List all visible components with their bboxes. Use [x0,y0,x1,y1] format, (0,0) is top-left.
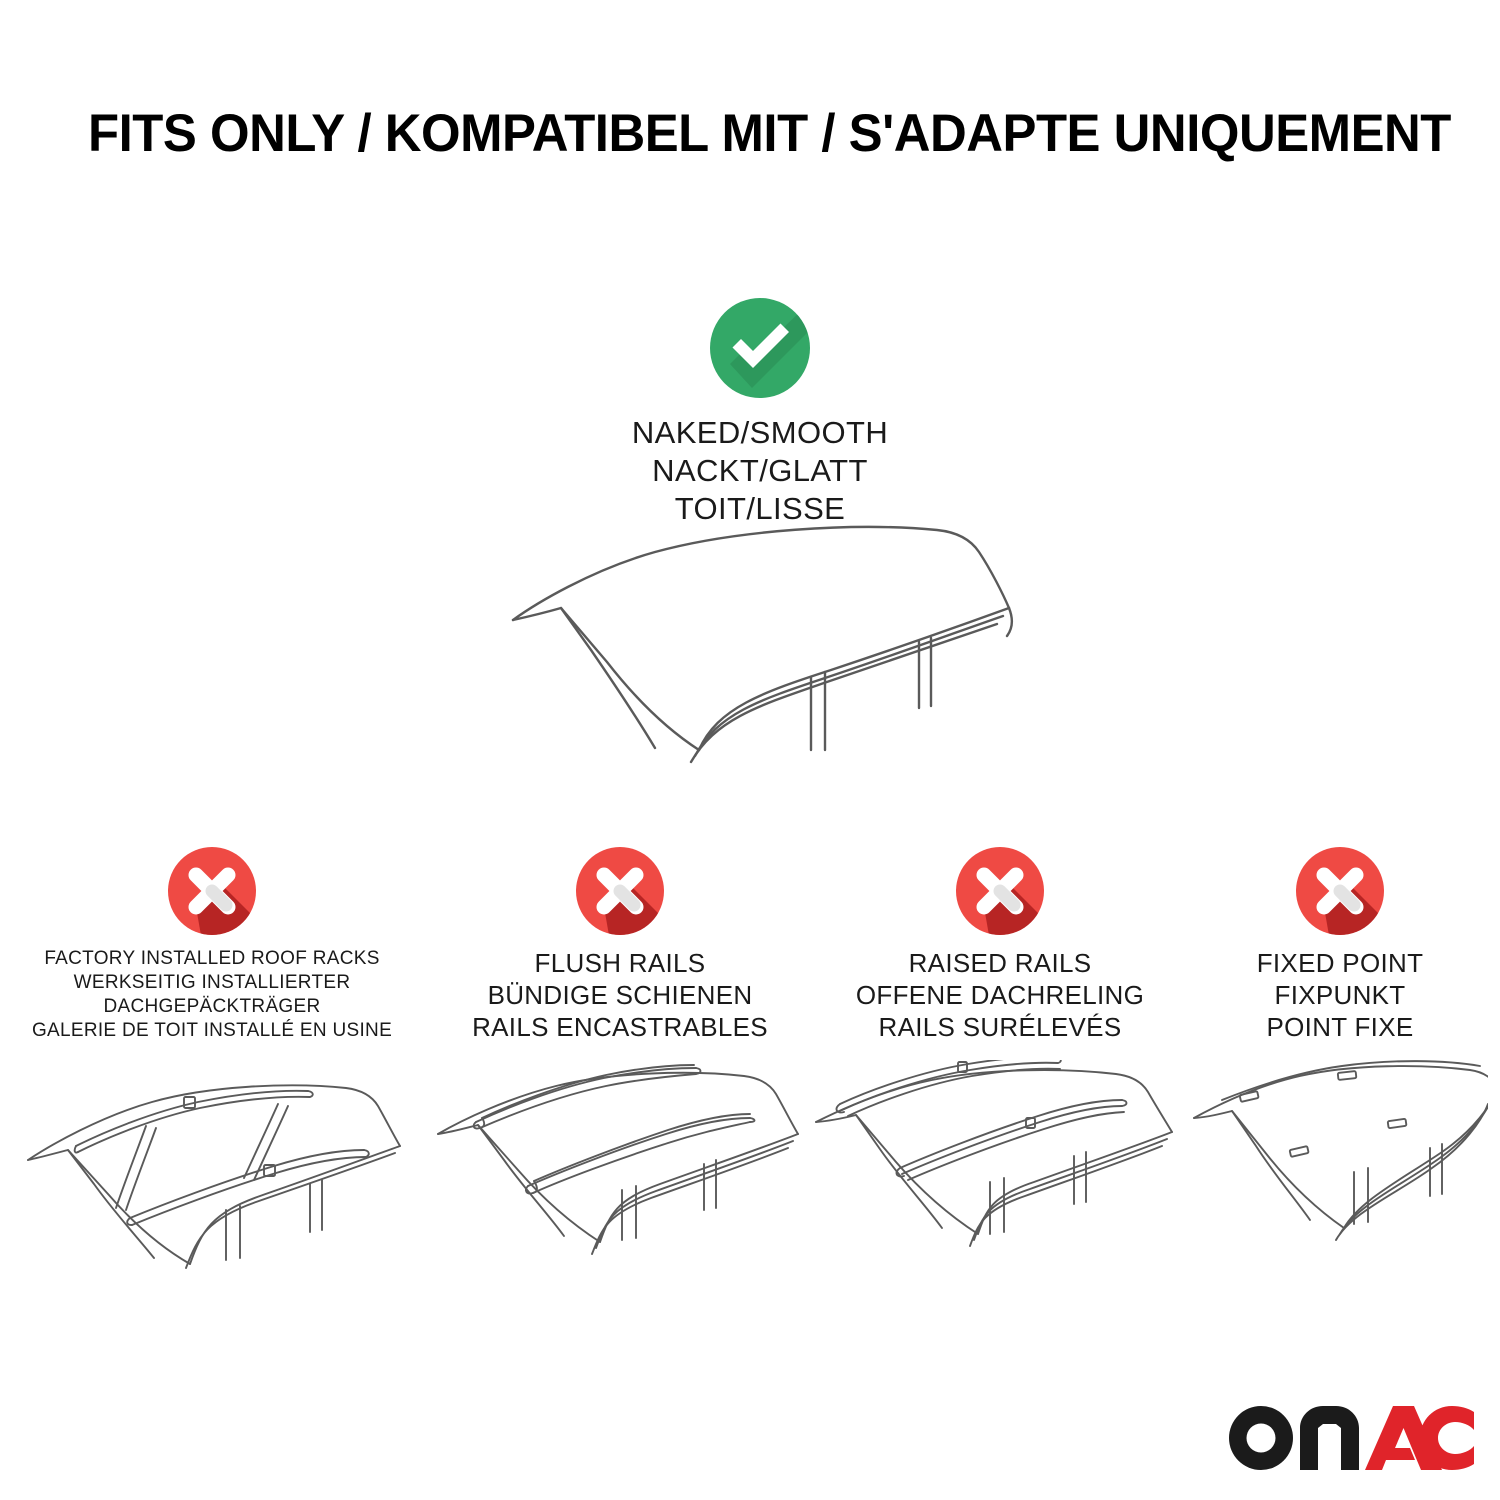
incompatible-labels: FLUSH RAILS BÜNDIGE SCHIENEN RAILS ENCAS… [432,947,808,1043]
green-check-circle-icon [708,296,812,400]
red-x-circle-icon [166,845,258,937]
label-fr: RAILS ENCASTRABLES [432,1011,808,1043]
compatible-label-de: NACKT/GLATT [500,452,1020,490]
raised-rails-illustration [812,1060,1188,1270]
infographic-page: FITS ONLY / KOMPATIBEL MIT / S'ADAPTE UN… [0,0,1500,1500]
label-fr: RAILS SURÉLEVÉS [812,1011,1188,1043]
incompatible-section: FACTORY INSTALLED ROOF RACKS WERKSEITIG … [0,845,1500,1265]
page-title: FITS ONLY / KOMPATIBEL MIT / S'ADAPTE UN… [88,104,1365,164]
label-fr: GALERIE DE TOIT INSTALLÉ EN USINE [12,1019,412,1043]
incompatible-item-fixed-point: FIXED POINT FIXPUNKT POINT FIXE [1192,845,1488,1043]
flush-rails-illustration [432,1060,808,1270]
incompatible-labels: FACTORY INSTALLED ROOF RACKS WERKSEITIG … [12,947,412,1043]
factory-roof-rack-illustration [12,1060,412,1270]
logo-letter-m [1300,1406,1359,1470]
label-de-1: WERKSEITIG INSTALLIERTER [12,971,412,995]
incompatible-labels: RAISED RAILS OFFENE DACHRELING RAILS SUR… [812,947,1188,1043]
label-de-1: BÜNDIGE SCHIENEN [432,979,808,1011]
incompatible-labels: FIXED POINT FIXPUNKT POINT FIXE [1192,947,1488,1043]
compatible-section: NAKED/SMOOTH NACKT/GLATT TOIT/LISSE [500,296,1020,528]
label-en: FLUSH RAILS [432,947,808,979]
label-en: FACTORY INSTALLED ROOF RACKS [12,947,412,971]
incompatible-item-raised-rails: RAISED RAILS OFFENE DACHRELING RAILS SUR… [812,845,1188,1043]
label-en: FIXED POINT [1192,947,1488,979]
red-x-circle-icon [1294,845,1386,937]
red-x-circle-icon [954,845,1046,937]
label-fr: POINT FIXE [1192,1011,1488,1043]
fixed-point-illustration [1192,1060,1488,1270]
incompatible-item-flush-rails: FLUSH RAILS BÜNDIGE SCHIENEN RAILS ENCAS… [432,845,808,1043]
label-de-2: DACHGEPÄCKTRÄGER [12,995,412,1019]
label-de-1: OFFENE DACHRELING [812,979,1188,1011]
omac-logo [1228,1402,1474,1474]
logo-letter-o [1229,1406,1293,1470]
red-x-circle-icon [574,845,666,937]
label-en: RAISED RAILS [812,947,1188,979]
compatible-labels: NAKED/SMOOTH NACKT/GLATT TOIT/LISSE [500,414,1020,528]
naked-smooth-roof-illustration [495,512,1025,802]
incompatible-item-factory-roof-racks: FACTORY INSTALLED ROOF RACKS WERKSEITIG … [12,845,412,1043]
label-de-1: FIXPUNKT [1192,979,1488,1011]
compatible-label-en: NAKED/SMOOTH [500,414,1020,452]
